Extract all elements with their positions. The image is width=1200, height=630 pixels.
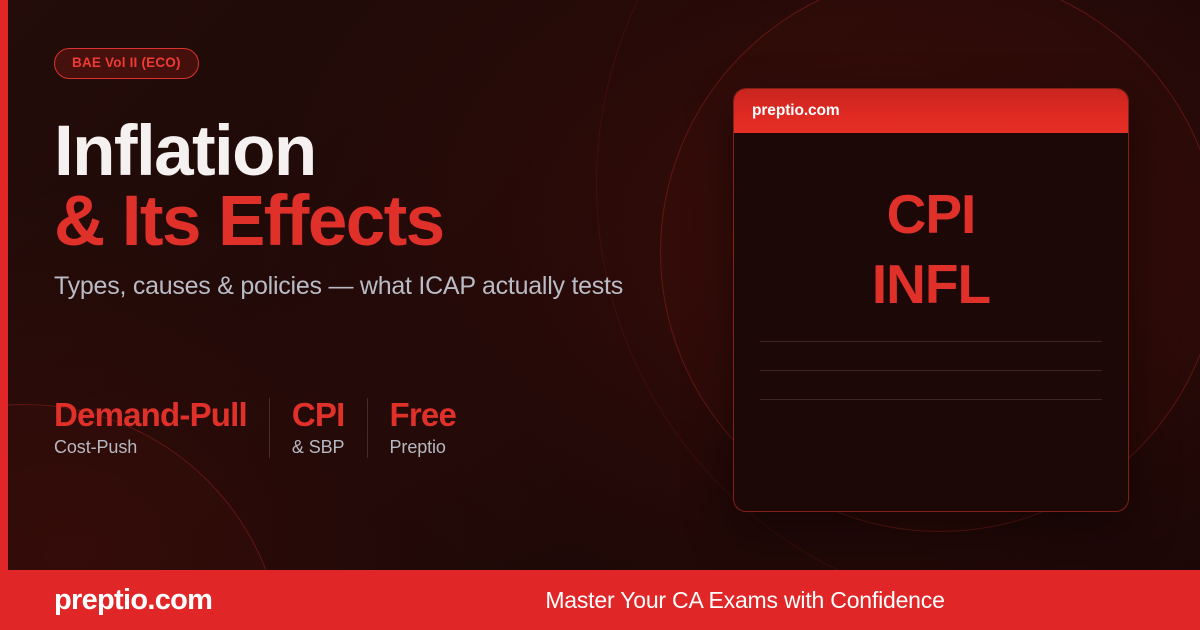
page-title: Inflation & Its Effects xyxy=(54,117,744,258)
placeholder-line xyxy=(760,341,1102,342)
poster-canvas: BAE Vol II (ECO) Inflation & Its Effects… xyxy=(0,0,1200,630)
stat-value: CPI xyxy=(292,398,345,433)
stat-item: Free Preptio xyxy=(367,398,479,458)
left-accent-bar xyxy=(0,0,8,630)
placeholder-line xyxy=(760,399,1102,400)
title-line-accent: & Its Effects xyxy=(54,187,744,257)
title-line-primary: Inflation xyxy=(54,117,744,187)
stat-label: Cost-Push xyxy=(54,437,247,458)
card-placeholder-lines xyxy=(760,341,1102,428)
stat-value: Free xyxy=(390,398,457,433)
stats-row: Demand-Pull Cost-Push CPI & SBP Free Pre… xyxy=(54,398,478,458)
browser-url-label: preptio.com xyxy=(752,102,840,120)
card-keyword: INFL xyxy=(760,249,1102,319)
card-keyword: CPI xyxy=(760,179,1102,249)
browser-card-header: preptio.com xyxy=(734,89,1128,133)
stat-item: Demand-Pull Cost-Push xyxy=(54,398,269,458)
browser-mockup-card: preptio.com CPI INFL xyxy=(733,88,1129,512)
stat-value: Demand-Pull xyxy=(54,398,247,433)
footer-tagline: Master Your CA Exams with Confidence xyxy=(0,587,1200,614)
page-subtitle: Types, causes & policies — what ICAP act… xyxy=(54,271,744,301)
stat-label: & SBP xyxy=(292,437,345,458)
footer-bar: preptio.com Master Your CA Exams with Co… xyxy=(0,570,1200,630)
course-badge: BAE Vol II (ECO) xyxy=(54,48,199,79)
stat-label: Preptio xyxy=(390,437,457,458)
browser-card-body: CPI INFL xyxy=(734,133,1128,512)
hero-text-column: BAE Vol II (ECO) Inflation & Its Effects… xyxy=(54,48,744,301)
stat-item: CPI & SBP xyxy=(269,398,367,458)
placeholder-line xyxy=(760,370,1102,371)
